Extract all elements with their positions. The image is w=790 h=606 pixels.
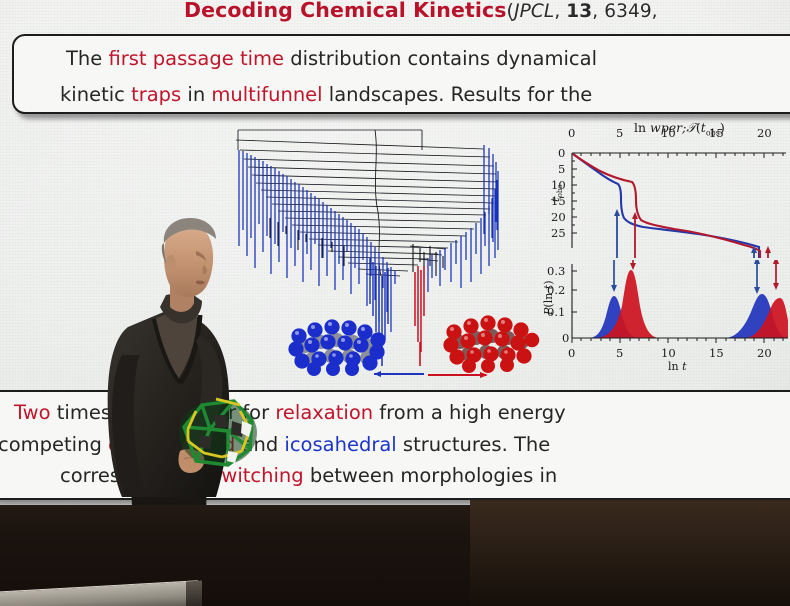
slide-title-open-paren: (	[507, 0, 515, 22]
graph-red-global-funnel	[415, 266, 424, 352]
text-b: from a high energy	[373, 401, 566, 424]
cluster-atoms-red	[443, 315, 539, 373]
top-xtick-10: 10	[661, 126, 676, 140]
highlight-two: Two	[14, 401, 51, 424]
graph-blue-branches-right	[428, 145, 498, 292]
top-ytick-0: 0	[558, 146, 565, 160]
text-b: in	[181, 83, 211, 106]
highlight-multifunnel: multifunnel	[211, 83, 322, 106]
laptop-hinge	[186, 581, 202, 606]
highlight-first-passage-time: first passage time	[108, 47, 284, 70]
top-ytick-25: 25	[551, 226, 566, 240]
slide-title: Decoding Chemical Kinetics(JPCL, 13, 634…	[184, 0, 790, 22]
low-xtick-20: 20	[757, 346, 772, 360]
annotation-red-down-arrow-left	[632, 212, 638, 258]
annotation-red-down-arrow-left-low	[630, 260, 636, 270]
annotation-blue-up-arrow-left	[614, 209, 620, 258]
text-a: The	[66, 47, 108, 70]
top-xtick-0: 0	[568, 126, 575, 140]
low-xtick-10: 10	[661, 346, 676, 360]
chart-mfpt-vs-tobs	[548, 136, 790, 258]
text-c: structures. The	[397, 433, 551, 456]
slide-title-comma-1: ,	[554, 1, 566, 22]
icosahedral-cluster	[438, 308, 550, 374]
top-xtick-5: 5	[616, 126, 623, 140]
text-b: between morphologies in	[304, 464, 558, 487]
cluster-transition-arrows	[372, 367, 490, 381]
low-ytick-03: 0.3	[547, 264, 565, 278]
top-ytick-5: 5	[558, 162, 565, 176]
top-xtick-20: 20	[757, 126, 772, 140]
top-ytick-20: 20	[551, 210, 566, 224]
annotation-red-double-arrow-right-low	[773, 260, 779, 290]
low-ytick-0: 0	[562, 331, 569, 345]
top-xtick-15: 15	[709, 126, 724, 140]
series-blue-branch	[573, 154, 759, 258]
slide-title-volume: 13	[566, 1, 592, 22]
low-yaxis-label: P(ln t)	[542, 280, 555, 315]
text-b: distribution contains dynamical	[284, 47, 597, 70]
low-xaxis-label: ln t	[668, 360, 687, 373]
red-right-arrow	[428, 372, 488, 378]
slide-title-main: Decoding Chemical Kinetics	[184, 0, 507, 22]
text-c: landscapes. Results for the	[323, 83, 593, 106]
highlight-traps: traps	[131, 83, 181, 106]
room-wall-right	[470, 500, 790, 606]
low-xtick-0: 0	[568, 346, 575, 360]
callout-box-top: The first passage time distribution cont…	[12, 34, 790, 114]
slide-title-journal: JPCL	[514, 1, 554, 22]
slide-title-page: 6349,	[604, 1, 657, 22]
presenter-ear	[166, 255, 176, 271]
slide-title-comma-2: ,	[592, 1, 604, 22]
top-yaxis-label: tobs	[549, 184, 564, 202]
low-xtick-5: 5	[616, 346, 623, 360]
highlight-icosahedral: icosahedral	[284, 433, 396, 456]
annotation-blue-down-arrow-left-low	[611, 260, 617, 292]
callout-top-line-1: The first passage time distribution cont…	[14, 36, 790, 69]
series-red-branch	[573, 154, 760, 258]
text-a: kinetic	[60, 83, 131, 106]
blue-left-arrow	[374, 371, 424, 377]
annotation-blue-double-arrow-right-low	[754, 260, 760, 294]
annotation-red-up-arrow-right	[765, 246, 771, 258]
low-xtick-15: 15	[709, 346, 724, 360]
kinetics-plot-panel: ln wper;𝒯(tobs)	[548, 120, 790, 380]
screenshot-root: Decoding Chemical Kinetics(JPCL, 13, 634…	[0, 0, 790, 606]
callout-top-line-2: kinetic traps in multifunnel landscapes.…	[14, 69, 790, 105]
